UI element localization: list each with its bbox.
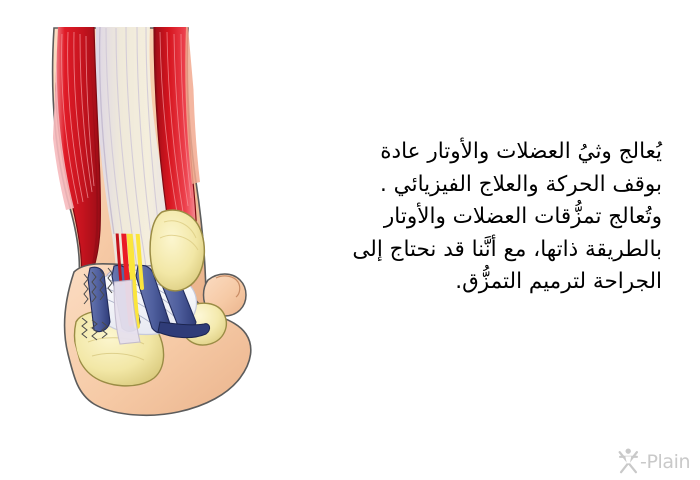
person-figure-x-icon (617, 448, 640, 474)
caption-line-5: الجراحة لترميم التمزُّق. (272, 266, 662, 299)
ankle-anatomy-illustration (10, 22, 270, 422)
caption-line-1: يُعالج وثيُ العضلات والأوتار عادة (272, 136, 662, 169)
caption-line-2: بوقف الحركة والعلاج الفيزيائي . (272, 169, 662, 202)
caption-line-3: وتُعالج تمزُّقات العضلات والأوتار (272, 201, 662, 234)
logo-wordmark: -Plain (640, 453, 690, 472)
x-plain-logo: -Plain (617, 447, 693, 475)
lateral-malleolus-bone (150, 210, 204, 291)
page-root: يُعالج وثيُ العضلات والأوتار عادة بوقف ا… (0, 0, 700, 480)
caption-text-block: يُعالج وثيُ العضلات والأوتار عادة بوقف ا… (272, 136, 662, 299)
caption-line-4: بالطريقة ذاتها، مع أنَّنا قد نحتاج إلى (272, 234, 662, 267)
